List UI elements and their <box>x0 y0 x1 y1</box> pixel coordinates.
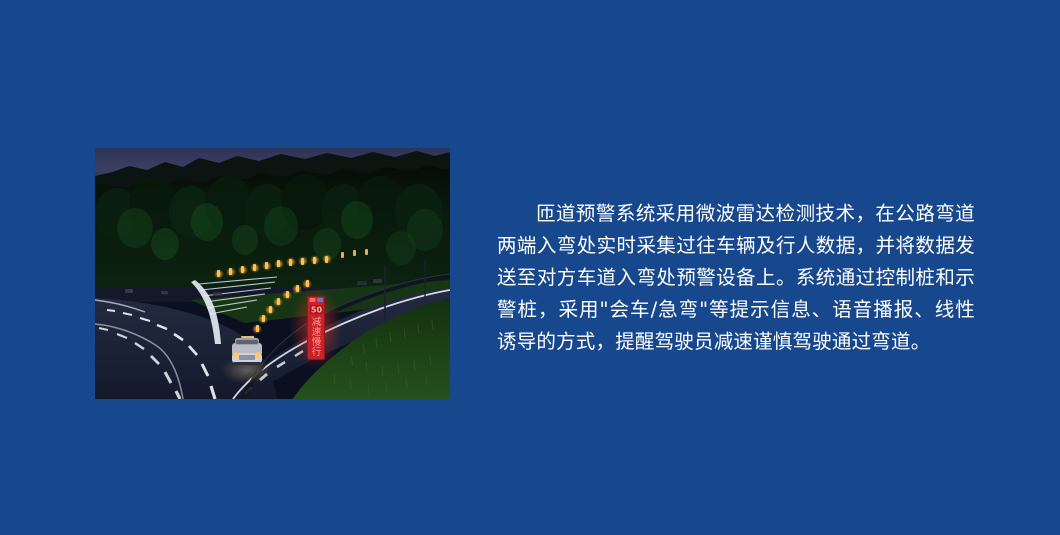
led-warning-sign: 50 减 速 慢 行 <box>290 286 342 370</box>
slide-canvas: 50 减 速 慢 行 <box>0 0 1060 535</box>
caption-paragraph: 匝道预警系统采用微波雷达检测技术，在公路弯道两端入弯处实时采集过往车辆及行人数据… <box>497 198 975 358</box>
highway-photo-illustration: 50 减 速 慢 行 <box>95 148 450 399</box>
svg-text:行: 行 <box>312 346 322 358</box>
caption-block: 匝道预警系统采用微波雷达检测技术，在公路弯道两端入弯处实时采集过往车辆及行人数据… <box>497 178 975 377</box>
svg-text:50: 50 <box>311 306 323 315</box>
highway-photo: 50 减 速 慢 行 <box>95 148 450 399</box>
